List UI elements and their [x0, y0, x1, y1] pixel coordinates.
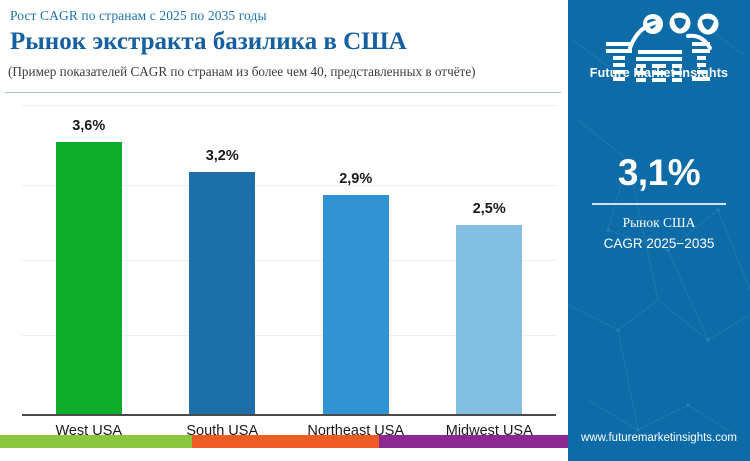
- bar-midwest-usa[interactable]: [456, 225, 522, 415]
- eyebrow-text: Рост CAGR по странам с 2025 по 2035 годы: [10, 8, 267, 24]
- page-title: Рынок экстракта базилика в США: [10, 28, 407, 56]
- bar-value-label: 2,5%: [426, 201, 552, 217]
- header-divider: [5, 92, 561, 93]
- footer-strip-orange: [192, 435, 379, 448]
- footer-strip-green: [0, 435, 192, 448]
- website-url: www.futuremarketinsights.com: [568, 432, 750, 444]
- content-area: Рост CAGR по странам с 2025 по 2035 годы…: [0, 0, 568, 448]
- logo-wordmark: Future Market Insights: [568, 66, 750, 80]
- chart-plot-area: 3,6%West USA3,2%South USA2,9%Northeast U…: [22, 96, 556, 415]
- stat-divider: [592, 203, 726, 205]
- bar-south-usa[interactable]: [189, 172, 255, 415]
- x-axis-line: [22, 414, 556, 416]
- bar-value-label: 3,6%: [26, 118, 152, 134]
- brand-panel: Future Market Insights 3,1% Рынок США CA…: [568, 0, 750, 461]
- infographic-root: Рост CAGR по странам с 2025 по 2035 годы…: [0, 0, 750, 461]
- stat-region-label: Рынок США: [568, 215, 750, 231]
- bar-west-usa[interactable]: [56, 142, 122, 415]
- bar-chart: 3,6%West USA3,2%South USA2,9%Northeast U…: [0, 96, 568, 448]
- bar-northeast-usa[interactable]: [323, 195, 389, 415]
- fmi-logo: Future Market Insights: [568, 6, 750, 96]
- page-subtitle: (Пример показателей CAGR по странам из б…: [8, 64, 476, 80]
- stat-value: 3,1%: [568, 152, 750, 194]
- bar-value-label: 3,2%: [159, 148, 285, 164]
- fmi-logo-mark: [568, 6, 750, 96]
- footer-strip-purple: [379, 435, 568, 448]
- gridline-0: [22, 105, 556, 106]
- bar-value-label: 2,9%: [293, 171, 419, 187]
- stat-period-label: CAGR 2025−2035: [568, 236, 750, 251]
